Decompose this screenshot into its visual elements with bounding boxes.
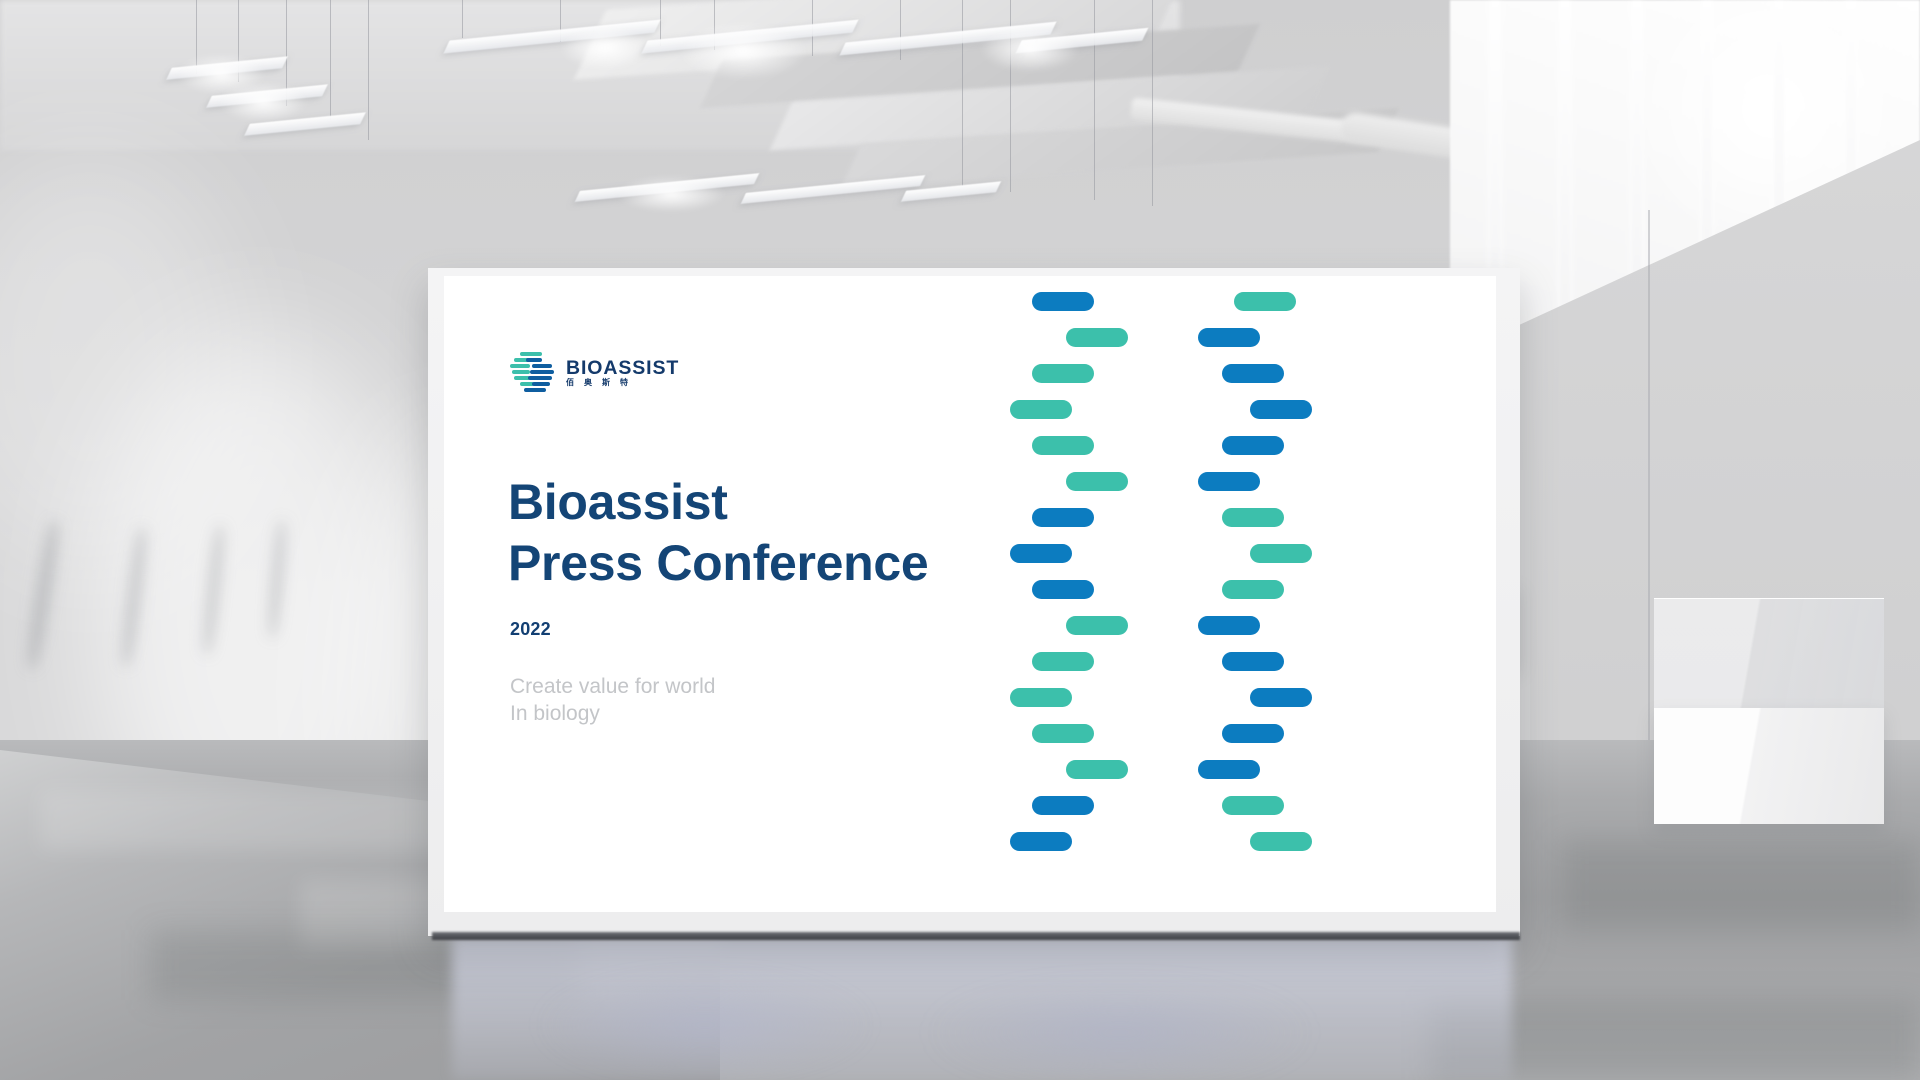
dna-bar <box>1010 688 1072 707</box>
board-floor-reflection-blob <box>540 975 870 1075</box>
tagline-line-1: Create value for world <box>510 674 715 701</box>
tagline-line-2: In biology <box>510 701 715 728</box>
dna-bar <box>1032 796 1094 815</box>
light-glow <box>218 82 308 122</box>
logo-bar <box>512 370 530 374</box>
dna-bar <box>1066 760 1128 779</box>
dna-bar <box>1234 292 1296 311</box>
dna-bar <box>1198 328 1260 347</box>
pendant-cable <box>1094 0 1095 200</box>
bioassist-logo[interactable]: BIOASSIST 佰奥斯特 <box>510 352 679 394</box>
logo-bar <box>526 358 542 362</box>
dna-bar <box>1010 400 1072 419</box>
logo-bar <box>532 382 550 386</box>
year-label: 2022 <box>510 619 551 640</box>
dna-bar <box>1032 364 1094 383</box>
dna-bar <box>1032 508 1094 527</box>
dna-bar <box>1198 472 1260 491</box>
window-mullion <box>1560 0 1570 330</box>
dna-bar <box>1222 364 1284 383</box>
dna-bar <box>1066 328 1128 347</box>
dna-bar <box>1032 580 1094 599</box>
dna-bar <box>1010 544 1072 563</box>
dna-bar <box>1250 688 1312 707</box>
dna-double-helix-graphic <box>1010 276 1430 912</box>
dna-bar <box>1032 436 1094 455</box>
floor-shadow <box>1560 840 1920 930</box>
logo-wordmark: BIOASSIST <box>566 359 679 379</box>
dna-bar <box>1066 472 1128 491</box>
dna-bar <box>1250 400 1312 419</box>
logo-bar <box>510 364 530 368</box>
title-line-1: Bioassist <box>508 474 728 530</box>
dna-bar <box>1032 652 1094 671</box>
logo-chinese-name: 佰奥斯特 <box>566 379 679 387</box>
pendant-cable <box>330 0 331 120</box>
light-glow <box>980 26 1080 72</box>
pendant-cable <box>900 0 901 60</box>
light-glow <box>616 176 726 212</box>
dna-bar <box>1032 292 1094 311</box>
tagline: Create value for world In biology <box>510 674 715 728</box>
board-floor-reflection-blob <box>930 985 1310 1080</box>
logo-bar <box>530 370 554 374</box>
dna-bar <box>1222 796 1284 815</box>
dna-bar <box>1222 724 1284 743</box>
dna-bar <box>1222 508 1284 527</box>
dna-bar <box>1010 832 1072 851</box>
dna-bar <box>1250 544 1312 563</box>
logo-bar <box>528 376 552 380</box>
light-glow <box>678 22 808 80</box>
dna-bar <box>1066 616 1128 635</box>
presentation-slide: BIOASSIST 佰奥斯特 Bioassist Press Conferenc… <box>444 276 1496 912</box>
logo-bar <box>520 352 542 356</box>
light-glow <box>560 26 650 70</box>
logo-text-block: BIOASSIST 佰奥斯特 <box>566 359 679 388</box>
dna-bar <box>1032 724 1094 743</box>
dna-bar <box>1222 652 1284 671</box>
board-bottom-edge <box>432 932 1520 940</box>
display-pedestal <box>1654 708 1884 824</box>
dna-bar <box>1250 832 1312 851</box>
logo-bar <box>524 388 546 392</box>
page-title: Bioassist Press Conference <box>508 472 928 593</box>
dna-bar <box>1198 616 1260 635</box>
wall-seam <box>1648 210 1650 800</box>
bioassist-dna-bars-logo-icon <box>510 352 554 394</box>
dna-bar <box>1222 436 1284 455</box>
display-vitrine <box>1654 598 1884 710</box>
title-line-2: Press Conference <box>508 533 928 594</box>
pendant-cable <box>1152 0 1153 206</box>
dna-bar <box>1198 760 1260 779</box>
dna-bar <box>1222 580 1284 599</box>
pendant-cable <box>368 0 369 140</box>
logo-bar <box>532 364 552 368</box>
pendant-cable <box>462 0 463 38</box>
pendant-cable <box>962 0 963 186</box>
